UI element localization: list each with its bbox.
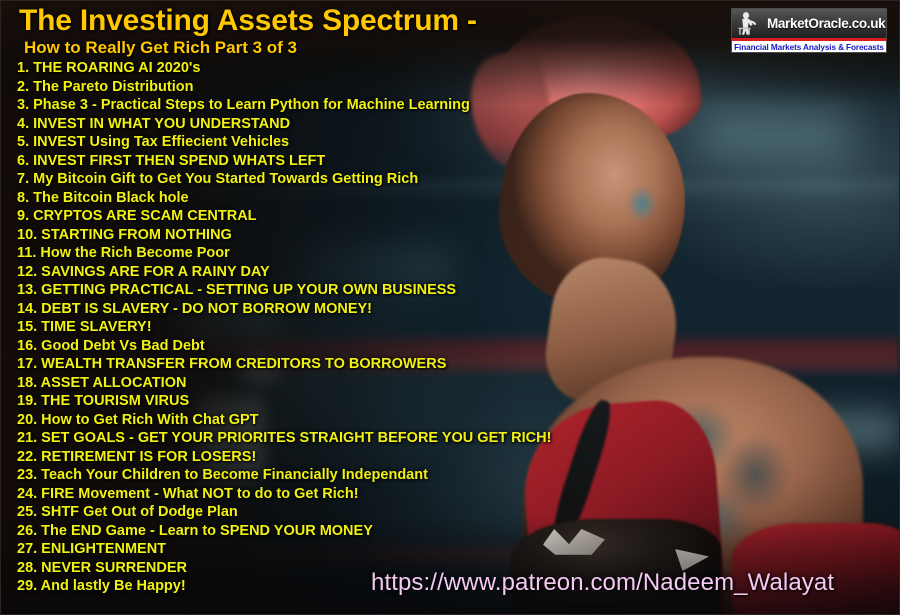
list-item: 11. How the Rich Become Poor (17, 244, 551, 263)
list-item: 23. Teach Your Children to Become Financ… (17, 466, 551, 485)
list-item: 7. My Bitcoin Gift to Get You Started To… (17, 170, 551, 189)
list-item: 9. CRYPTOS ARE SCAM CENTRAL (17, 207, 551, 226)
page-subtitle: How to Really Get Rich Part 3 of 3 (24, 38, 477, 58)
list-item: 13. GETTING PRACTICAL - SETTING UP YOUR … (17, 281, 551, 300)
list-item: 6. INVEST FIRST THEN SPEND WHATS LEFT (17, 152, 551, 171)
logo-wordmark: MarketOracle.co.uk (767, 16, 885, 31)
list-item: 8. The Bitcoin Black hole (17, 189, 551, 208)
patreon-url[interactable]: https://www.patreon.com/Nadeem_Walayat (371, 569, 834, 597)
list-item: 2. The Pareto Distribution (17, 78, 551, 97)
list-item: 5. INVEST Using Tax Effiecient Vehicles (17, 133, 551, 152)
list-item: 15. TIME SLAVERY! (17, 318, 551, 337)
list-item: 27. ENLIGHTENMENT (17, 540, 551, 559)
list-item: 19. THE TOURISM VIRUS (17, 392, 551, 411)
list-item: 26. The END Game - Learn to SPEND YOUR M… (17, 522, 551, 541)
list-item: 10. STARTING FROM NOTHING (17, 226, 551, 245)
list-item: 24. FIRE Movement - What NOT to do to Ge… (17, 485, 551, 504)
list-item: 21. SET GOALS - GET YOUR PRIORITES STRAI… (17, 429, 551, 448)
logo-main-bar: MarketOracle.co.uk (732, 9, 886, 38)
oracle-figure-icon (733, 10, 767, 37)
poster-canvas: The Investing Assets Spectrum - How to R… (0, 0, 900, 615)
list-item: 22. RETIREMENT IS FOR LOSERS! (17, 448, 551, 467)
topic-list: 1. THE ROARING AI 2020's 2. The Pareto D… (17, 59, 551, 596)
logo-tagline-bar: Financial Markets Analysis & Forecasts (732, 41, 886, 53)
list-item: 12. SAVINGS ARE FOR A RAINY DAY (17, 263, 551, 282)
list-item: 4. INVEST IN WHAT YOU UNDERSTAND (17, 115, 551, 134)
list-item: 1. THE ROARING AI 2020's (17, 59, 551, 78)
list-item: 20. How to Get Rich With Chat GPT (17, 411, 551, 430)
poster-content: The Investing Assets Spectrum - How to R… (1, 1, 899, 614)
list-item: 3. Phase 3 - Practical Steps to Learn Py… (17, 96, 551, 115)
list-item: 17. WEALTH TRANSFER FROM CREDITORS TO BO… (17, 355, 551, 374)
page-title: The Investing Assets Spectrum - (19, 5, 477, 37)
list-item: 14. DEBT IS SLAVERY - DO NOT BORROW MONE… (17, 300, 551, 319)
list-item: 25. SHTF Get Out of Dodge Plan (17, 503, 551, 522)
logo-tagline: Financial Markets Analysis & Forecasts (734, 43, 884, 52)
title-block: The Investing Assets Spectrum - How to R… (19, 5, 477, 58)
list-item: 16. Good Debt Vs Bad Debt (17, 337, 551, 356)
marketoracle-logo[interactable]: MarketOracle.co.uk Financial Markets Ana… (731, 8, 887, 53)
list-item: 18. ASSET ALLOCATION (17, 374, 551, 393)
